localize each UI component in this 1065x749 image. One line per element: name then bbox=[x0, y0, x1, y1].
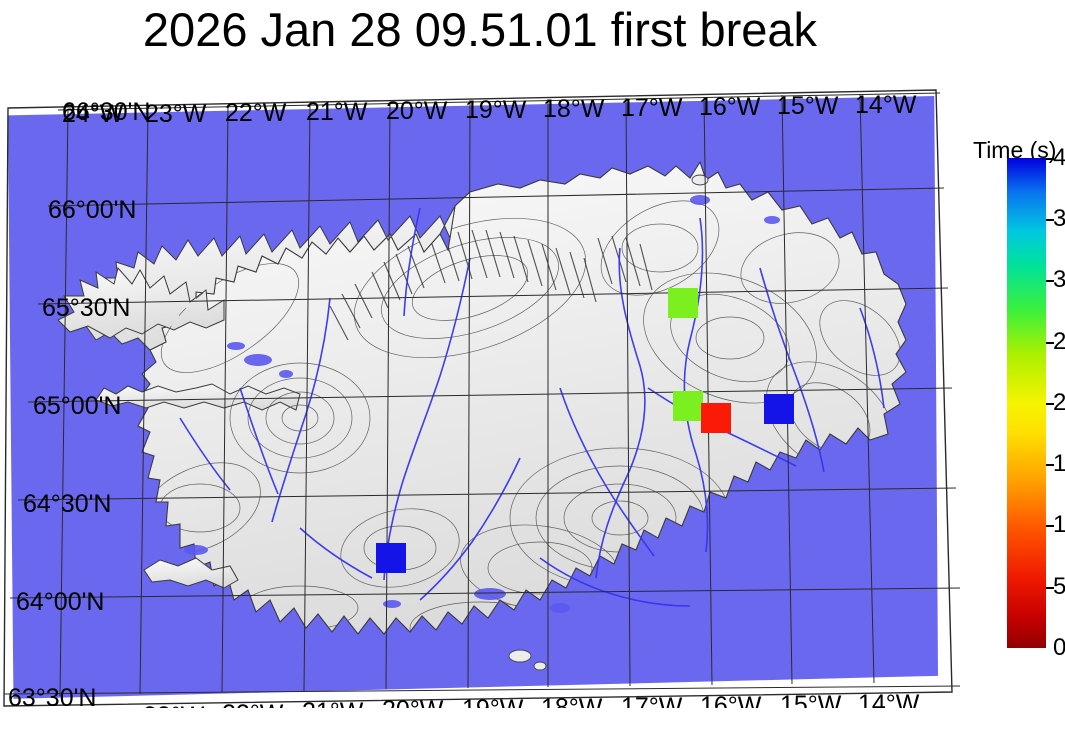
colorbar-label: 30 bbox=[1053, 268, 1065, 292]
event-marker-3[interactable] bbox=[701, 403, 731, 433]
lon-label-bottom: 23°W bbox=[143, 704, 204, 708]
lon-label-bottom: 15°W bbox=[780, 693, 841, 708]
lon-label-top: 22°W bbox=[225, 101, 286, 126]
event-marker-5[interactable] bbox=[376, 543, 406, 573]
colorbar-label: 10 bbox=[1053, 513, 1065, 537]
lat-label: 65°30'N bbox=[42, 296, 130, 321]
lon-label-bottom: 18°W bbox=[541, 696, 602, 708]
lon-label-bottom: 20°W bbox=[382, 698, 443, 708]
map-panel[interactable]: 66°30'N 66°00'N 65°30'N 65°00'N 64°30'N … bbox=[0, 88, 960, 708]
event-marker-2[interactable] bbox=[673, 391, 703, 421]
lat-label: 64°30'N bbox=[23, 492, 111, 517]
lon-label-bottom: 16°W bbox=[700, 694, 761, 708]
lon-label-bottom: 22°W bbox=[222, 702, 283, 708]
lon-label-top: 17°W bbox=[621, 96, 682, 121]
lon-label-bottom: 21°W bbox=[302, 700, 363, 708]
event-marker-1[interactable] bbox=[668, 288, 698, 318]
colorbar-label: 15 bbox=[1053, 452, 1065, 476]
lon-label-top: 24°W bbox=[62, 102, 123, 127]
colorbar-label: 35 bbox=[1053, 207, 1065, 231]
colorbar-label: 40 bbox=[1053, 146, 1065, 170]
lat-label: 65°00'N bbox=[33, 394, 121, 419]
lon-label-top: 19°W bbox=[465, 98, 526, 123]
lon-label-bottom: 14°W bbox=[858, 692, 919, 708]
colorbar-label: 25 bbox=[1053, 330, 1065, 354]
lon-label-top: 15°W bbox=[777, 94, 838, 119]
lon-label-top: 16°W bbox=[699, 95, 760, 120]
colorbar-gradient bbox=[1007, 158, 1046, 648]
lon-label-top: 23°W bbox=[145, 102, 206, 127]
lon-label-bottom: 24°W bbox=[62, 706, 123, 708]
lon-label-top: 20°W bbox=[386, 99, 447, 124]
colorbar-label: 0 bbox=[1053, 636, 1065, 660]
lon-label-top: 21°W bbox=[306, 100, 367, 125]
lon-label-top: 14°W bbox=[855, 93, 916, 118]
event-marker-4[interactable] bbox=[764, 394, 794, 424]
lon-label-bottom: 19°W bbox=[462, 697, 523, 708]
lon-label-bottom: 17°W bbox=[621, 695, 682, 708]
colorbar-label: 5 bbox=[1053, 575, 1065, 599]
lat-label: 64°00'N bbox=[16, 590, 104, 615]
lon-label-top: 18°W bbox=[543, 97, 604, 122]
colorbar-label: 20 bbox=[1053, 391, 1065, 415]
lat-label: 66°00'N bbox=[48, 198, 136, 223]
page-title: 2026 Jan 28 09.51.01 first break bbox=[0, 2, 960, 58]
map-graticule bbox=[0, 88, 960, 708]
